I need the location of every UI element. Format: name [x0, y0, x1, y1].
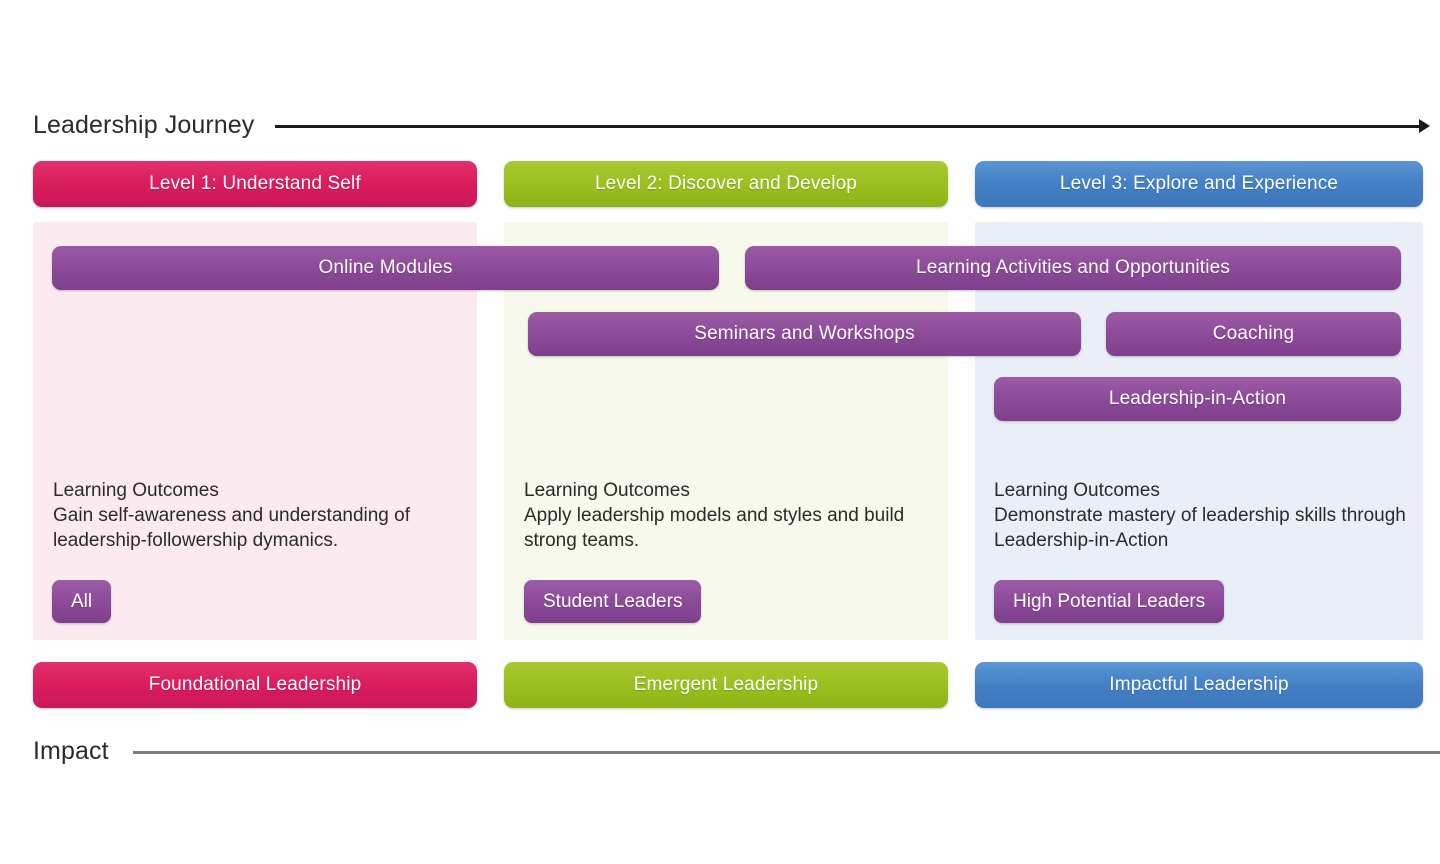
- level-2-header-bar[interactable]: Level 2: Discover and Develop: [504, 161, 948, 207]
- impact-bar-foundational-leadership[interactable]: Foundational Leadership: [33, 662, 477, 708]
- activity-bar-coaching[interactable]: Coaching: [1106, 312, 1401, 356]
- audience-pill-student-leaders[interactable]: Student Leaders: [524, 580, 701, 623]
- level-2-learning-outcomes: Learning Outcomes Apply leadership model…: [524, 478, 944, 553]
- learning-outcomes-heading: Learning Outcomes: [524, 478, 944, 503]
- impact-bar-impactful-leadership[interactable]: Impactful Leadership: [975, 662, 1423, 708]
- level-1-header-bar[interactable]: Level 1: Understand Self: [33, 161, 477, 207]
- leadership-journey-axis-label: Leadership Journey: [33, 111, 254, 140]
- activity-bar-online-modules[interactable]: Online Modules: [52, 246, 719, 290]
- learning-outcomes-body: Demonstrate mastery of leadership skills…: [994, 503, 1414, 553]
- audience-pill-high-potential-leaders[interactable]: High Potential Leaders: [994, 580, 1224, 623]
- level-3-learning-outcomes: Learning Outcomes Demonstrate mastery of…: [994, 478, 1414, 553]
- activity-bar-learning-activities[interactable]: Learning Activities and Opportunities: [745, 246, 1401, 290]
- level-1-learning-outcomes: Learning Outcomes Gain self-awareness an…: [53, 478, 473, 553]
- activity-bar-leadership-in-action[interactable]: Leadership-in-Action: [994, 377, 1401, 421]
- learning-outcomes-heading: Learning Outcomes: [53, 478, 473, 503]
- learning-outcomes-heading: Learning Outcomes: [994, 478, 1414, 503]
- activity-bar-seminars-workshops[interactable]: Seminars and Workshops: [528, 312, 1081, 356]
- level-3-header-bar[interactable]: Level 3: Explore and Experience: [975, 161, 1423, 207]
- arrow-right-icon: [1419, 119, 1430, 133]
- impact-axis-label: Impact: [33, 737, 109, 766]
- impact-bar-emergent-leadership[interactable]: Emergent Leadership: [504, 662, 948, 708]
- audience-pill-all[interactable]: All: [52, 580, 111, 623]
- leadership-journey-axis-line: [275, 125, 1423, 128]
- diagram-canvas: Leadership Journey Level 1: Understand S…: [0, 0, 1440, 864]
- impact-axis-line: [133, 751, 1440, 754]
- learning-outcomes-body: Gain self-awareness and understanding of…: [53, 503, 473, 553]
- learning-outcomes-body: Apply leadership models and styles and b…: [524, 503, 944, 553]
